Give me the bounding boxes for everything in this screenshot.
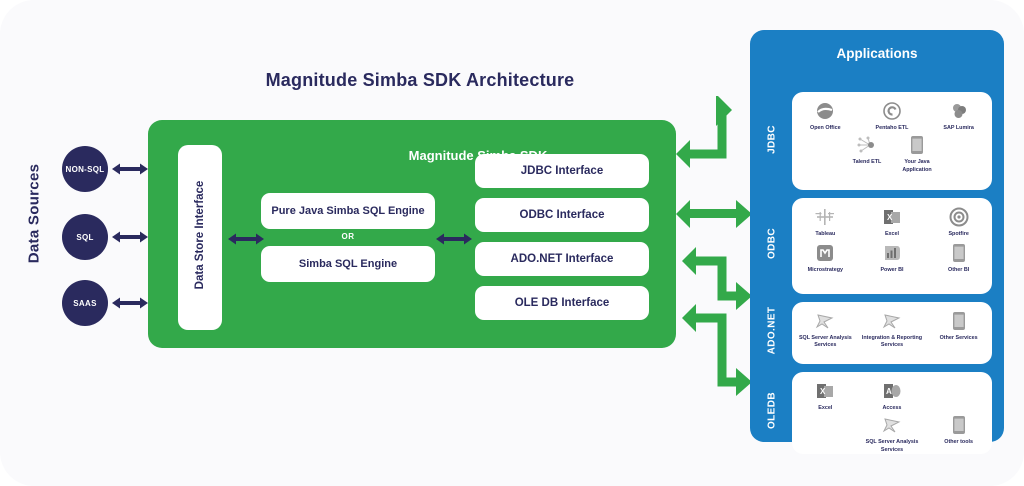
- sap-lumira-icon: [948, 100, 970, 122]
- app-item-talend-etl: Talend ETL: [842, 134, 892, 166]
- apps-group-label-odbc: ODBC: [767, 204, 778, 284]
- app-label: Tableau: [815, 231, 835, 238]
- adonet-interface-box: ADO.NET Interface: [475, 242, 649, 276]
- apps-card-odbc: Tableau X Excel Spotfire: [792, 198, 992, 294]
- app-row: Open Office Pentaho ETL SAP Lumira: [792, 92, 992, 132]
- app-label: SQL Server Analysis Services: [794, 335, 856, 350]
- double-arrow-horizontal-icon: [112, 162, 148, 176]
- app-item-sap-lumira: SAP Lumira: [928, 100, 990, 132]
- data-sources-label: Data Sources: [26, 154, 43, 274]
- app-label: Your Java Application: [892, 159, 942, 174]
- data-source-label: SAAS: [73, 299, 96, 308]
- app-item-sql-server-analysis-services-oledb: SQL Server Analysis Services: [861, 414, 923, 454]
- engine-pure-java-label: Pure Java Simba SQL Engine: [271, 205, 424, 217]
- app-label: Other Services: [940, 335, 978, 342]
- sdk-panel: Magnitude Simba SDK Data Store Interface…: [148, 120, 676, 348]
- app-item-spotfire: Spotfire: [928, 206, 990, 238]
- app-label: Excel: [818, 405, 832, 412]
- double-arrow-horizontal-icon: [112, 296, 148, 310]
- apps-card-adonet: SQL Server Analysis Services Integration…: [792, 302, 992, 364]
- app-item-open-office: Open Office: [794, 100, 856, 132]
- odbc-interface-box: ODBC Interface: [475, 198, 649, 232]
- data-store-interface-box: Data Store Interface: [178, 145, 222, 330]
- svg-text:X: X: [887, 213, 893, 222]
- excel-icon: X: [881, 206, 903, 228]
- app-label: Other tools: [944, 439, 973, 446]
- app-item-tableau: Tableau: [794, 206, 856, 238]
- tableau-sparkle-icon: [814, 206, 836, 228]
- app-label: Talend ETL: [853, 159, 882, 166]
- app-label: Power BI: [880, 267, 903, 274]
- sql-server-analysis-icon: [814, 310, 836, 332]
- app-row: SQL Server Analysis Services Other tools: [792, 412, 992, 454]
- engine-pure-java-box: Pure Java Simba SQL Engine: [261, 193, 435, 229]
- apps-card-oledb: X Excel A Access SQL S: [792, 372, 992, 454]
- engine-simba-box: Simba SQL Engine: [261, 246, 435, 282]
- app-label: Microstrategy: [808, 267, 843, 274]
- apps-group-label-jdbc: JDBC: [767, 100, 778, 180]
- odbc-interface-label: ODBC Interface: [520, 209, 605, 221]
- app-row: Microstrategy Power BI Other BI: [792, 238, 992, 274]
- sql-server-analysis-icon: [881, 310, 903, 332]
- applications-title: Applications: [750, 46, 1004, 61]
- app-item-excel-oledb: X Excel: [794, 380, 856, 412]
- apps-card-jdbc: Open Office Pentaho ETL SAP Lumira: [792, 92, 992, 190]
- app-label: Pentaho ETL: [876, 125, 909, 132]
- app-item-microstrategy: Microstrategy: [794, 242, 856, 274]
- access-icon: A: [881, 380, 903, 402]
- app-item-other-tools: Other tools: [928, 414, 990, 446]
- app-label: Excel: [885, 231, 899, 238]
- app-item-integration-reporting-services: Integration & Reporting Services: [861, 310, 923, 350]
- app-item-other-bi: Other BI: [928, 242, 990, 274]
- pentaho-spiral-icon: [881, 100, 903, 122]
- engine-simba-label: Simba SQL Engine: [299, 258, 397, 270]
- jdbc-interface-label: JDBC Interface: [521, 165, 603, 177]
- data-source-saas: SAAS: [62, 280, 108, 326]
- data-store-interface-label: Data Store Interface: [194, 153, 206, 317]
- mobile-device-icon: [948, 414, 970, 436]
- svg-text:A: A: [886, 387, 892, 396]
- app-item-sql-server-analysis-services: SQL Server Analysis Services: [794, 310, 856, 350]
- excel-icon: X: [814, 380, 836, 402]
- app-label: Spotfire: [948, 231, 968, 238]
- double-arrow-horizontal-icon: [228, 232, 264, 246]
- apps-group-label-adonet: ADO.NET: [767, 291, 778, 371]
- app-row: Talend ETL Your Java Application: [792, 132, 992, 174]
- app-label: Open Office: [810, 125, 841, 132]
- svg-text:X: X: [820, 387, 826, 396]
- mobile-device-icon: [906, 134, 928, 156]
- double-arrow-horizontal-icon: [436, 232, 472, 246]
- openoffice-icon: [814, 100, 836, 122]
- jdbc-interface-box: JDBC Interface: [475, 154, 649, 188]
- app-item-power-bi: Power BI: [861, 242, 923, 274]
- powerbi-bars-icon: [881, 242, 903, 264]
- double-arrow-horizontal-icon: [112, 230, 148, 244]
- data-source-sql: SQL: [62, 214, 108, 260]
- data-source-label: NON-SQL: [66, 165, 105, 174]
- applications-panel: Applications JDBC ODBC ADO.NET OLEDB Ope…: [750, 30, 1004, 442]
- oledb-interface-label: OLE DB Interface: [515, 297, 610, 309]
- app-item-excel: X Excel: [861, 206, 923, 238]
- engine-or-separator: OR: [261, 232, 435, 241]
- app-item-your-java-application: Your Java Application: [892, 134, 942, 174]
- mobile-device-icon: [948, 242, 970, 264]
- odbc-connector: [676, 200, 752, 228]
- app-label: Access: [883, 405, 902, 412]
- connector-arrows: [676, 96, 760, 396]
- app-label: Other BI: [948, 267, 969, 274]
- spotfire-target-icon: [948, 206, 970, 228]
- app-item-pentaho-etl: Pentaho ETL: [861, 100, 923, 132]
- app-item-other-services: Other Services: [928, 310, 990, 342]
- talend-network-icon: [856, 134, 878, 156]
- diagram-canvas: Magnitude Simba SDK Architecture Data So…: [0, 0, 1024, 486]
- app-label: SQL Server Analysis Services: [861, 439, 923, 454]
- app-label: SAP Lumira: [943, 125, 973, 132]
- app-row: X Excel A Access: [792, 372, 992, 412]
- page-title: Magnitude Simba SDK Architecture: [160, 70, 680, 91]
- data-source-non-sql: NON-SQL: [62, 146, 108, 192]
- mobile-device-icon: [948, 310, 970, 332]
- sql-server-analysis-icon: [881, 414, 903, 436]
- data-source-label: SQL: [76, 233, 93, 242]
- microstrategy-icon: [814, 242, 836, 264]
- adonet-interface-label: ADO.NET Interface: [511, 253, 614, 265]
- apps-group-label-oledb: OLEDB: [767, 371, 778, 451]
- app-label: Integration & Reporting Services: [861, 335, 923, 350]
- app-row: SQL Server Analysis Services Integration…: [792, 302, 992, 350]
- app-item-access: A Access: [861, 380, 923, 412]
- app-row: Tableau X Excel Spotfire: [792, 198, 992, 238]
- oledb-interface-box: OLE DB Interface: [475, 286, 649, 320]
